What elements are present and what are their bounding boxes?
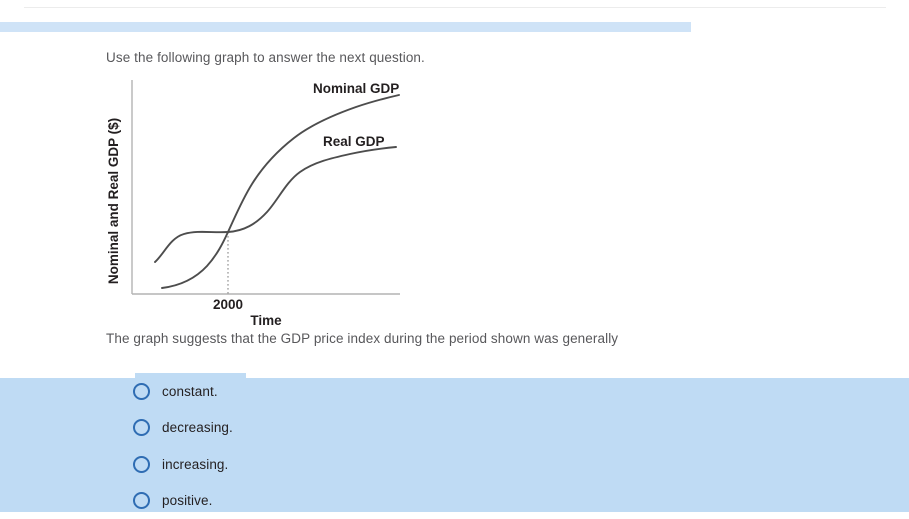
option-label: positive. [162,493,212,508]
radio-button-icon[interactable] [133,383,150,400]
option-label: increasing. [162,457,228,472]
x-tick-label-2000: 2000 [213,297,243,312]
option-row-decreasing[interactable]: decreasing. [133,410,533,447]
option-label: constant. [162,384,218,399]
radio-button-icon[interactable] [133,456,150,473]
question-intro: Use the following graph to answer the ne… [106,50,425,65]
selection-highlight-tail [0,22,691,32]
selection-gap-left [0,0,135,22]
radio-button-icon[interactable] [133,492,150,509]
x-axis-label: Time [250,313,282,326]
y-axis-label: Nominal and Real GDP ($) [106,118,121,284]
option-row-positive[interactable]: positive. [133,483,533,519]
gdp-chart-svg: Nominal and Real GDP ($) Nominal GDP Rea… [104,76,414,326]
series-real-gdp-curve [155,147,396,262]
question-stem: The graph suggests that the GDP price in… [106,331,618,346]
series-label-nominal-gdp: Nominal GDP [313,81,399,96]
answer-options-list: constant. decreasing. increasing. positi… [133,373,533,519]
radio-button-icon[interactable] [133,419,150,436]
top-divider [24,7,886,8]
option-row-constant[interactable]: constant. [133,373,533,410]
gdp-chart-figure: Nominal and Real GDP ($) Nominal GDP Rea… [104,76,414,326]
series-nominal-gdp-curve [162,95,399,288]
series-label-real-gdp: Real GDP [323,134,385,149]
option-row-increasing[interactable]: increasing. [133,446,533,483]
option-label: decreasing. [162,420,233,435]
